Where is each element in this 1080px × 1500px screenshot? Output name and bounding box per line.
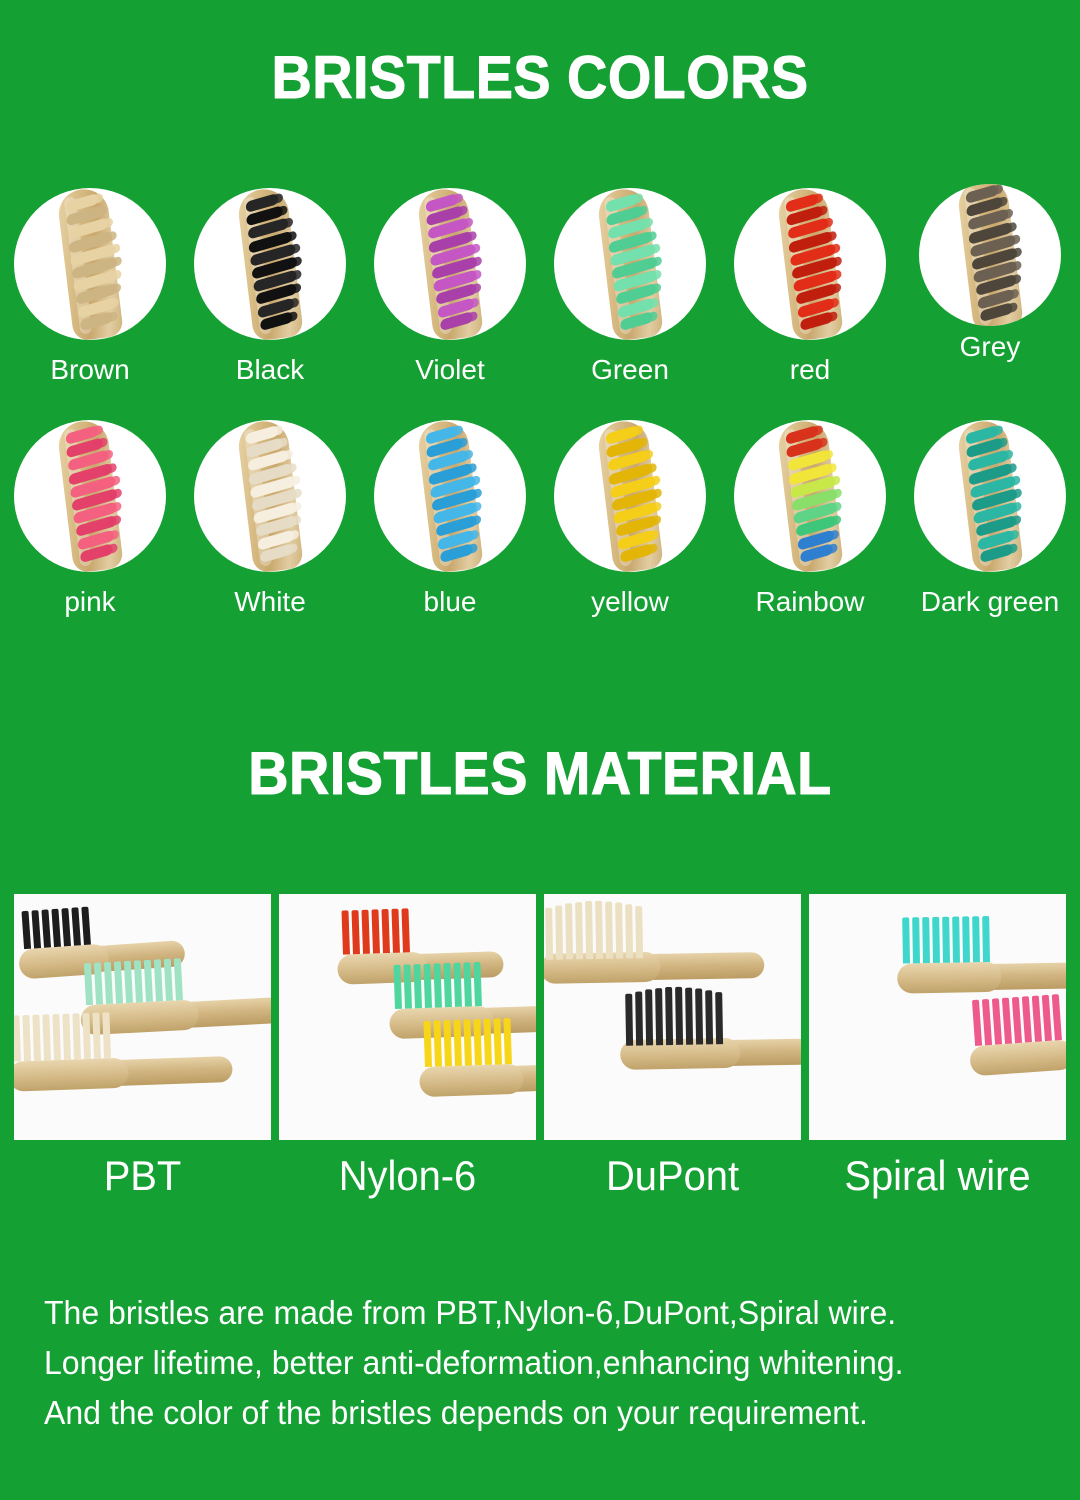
color-swatch-photo[interactable] — [374, 188, 526, 340]
bristle — [565, 903, 573, 959]
bristle — [902, 917, 910, 963]
bristle — [635, 906, 643, 958]
material-label-group: PBTNylon-6DuPontSpiral wire — [14, 1152, 1066, 1200]
bristle — [493, 1018, 502, 1064]
bristle — [655, 988, 663, 1045]
bristle — [715, 992, 723, 1044]
description-text: The bristles are made from PBT,Nylon-6,D… — [44, 1288, 975, 1438]
bristle — [503, 1018, 512, 1064]
color-swatch-photo[interactable] — [14, 188, 166, 340]
color-swatch-label: Violet — [415, 355, 485, 385]
bristle — [595, 901, 603, 959]
bristle — [962, 916, 970, 962]
color-swatch-item[interactable]: Black — [180, 188, 360, 385]
color-swatch-label: blue — [424, 587, 477, 617]
bristle — [42, 1014, 51, 1060]
bristle-row — [625, 986, 723, 1046]
material-label: PBT — [20, 1152, 264, 1200]
bristle — [401, 908, 410, 952]
color-swatch-item[interactable]: pink — [0, 420, 180, 617]
bristle — [443, 1020, 452, 1066]
bristle — [615, 902, 623, 958]
color-swatch-label: red — [790, 355, 830, 385]
yellow-brush — [417, 1017, 536, 1113]
bristle — [144, 960, 153, 1002]
bristle-row — [14, 1012, 111, 1061]
bristle — [61, 908, 71, 946]
toothbrush-head-illustration — [408, 420, 492, 572]
brush-head-base — [419, 1064, 524, 1098]
color-swatch-label: yellow — [591, 587, 669, 617]
bristle — [81, 907, 91, 945]
bristle — [982, 999, 992, 1045]
bristle — [14, 1015, 21, 1061]
toothbrush-head-illustration — [408, 188, 492, 340]
bristle — [932, 917, 940, 963]
description-line-3: And the color of the bristles depends on… — [44, 1388, 975, 1438]
bristle — [992, 998, 1002, 1044]
toothbrush-head-illustration — [768, 420, 852, 572]
bristle-row — [902, 916, 990, 964]
bristle — [555, 905, 563, 959]
color-swatch-item[interactable]: yellow — [540, 420, 720, 617]
bristle-colors-row-1: BrownBlackVioletGreenredGrey — [0, 188, 1080, 385]
bristle — [371, 909, 380, 953]
toothbrush-head-illustration — [48, 420, 132, 572]
bristle — [403, 964, 412, 1008]
bristle — [51, 909, 61, 947]
color-swatch-photo[interactable] — [374, 420, 526, 572]
bristle — [351, 910, 360, 954]
toothbrush-head-illustration — [48, 188, 132, 340]
bristle — [483, 1019, 492, 1065]
bristle — [134, 960, 143, 1002]
cream-brush — [14, 1010, 225, 1107]
bristle — [174, 958, 183, 1000]
bristle — [952, 917, 960, 963]
color-swatch-photo[interactable] — [554, 420, 706, 572]
bristle — [912, 917, 920, 963]
bristle — [675, 987, 683, 1045]
page-title-bristles-colors: BRISTLES COLORS — [38, 46, 1042, 110]
bristle — [1022, 996, 1032, 1042]
color-swatch-photo[interactable] — [734, 188, 886, 340]
color-swatch-item[interactable]: Brown — [0, 188, 180, 385]
bristle — [423, 1021, 432, 1067]
bristle — [463, 962, 472, 1006]
bristle — [635, 991, 643, 1045]
bristle — [575, 902, 583, 959]
bristle — [94, 962, 103, 1004]
bristle — [31, 910, 41, 948]
bristle — [92, 1013, 101, 1059]
toothbrush-head-illustration — [228, 188, 312, 340]
bristle — [545, 908, 553, 960]
color-swatch-photo[interactable] — [554, 188, 706, 340]
bristle — [82, 1013, 91, 1059]
color-swatch-item[interactable]: Grey — [900, 188, 1080, 385]
bristle — [982, 916, 990, 962]
color-swatch-photo[interactable] — [194, 188, 346, 340]
bristle — [665, 987, 673, 1045]
bristle — [52, 1014, 61, 1060]
bristle — [473, 962, 482, 1006]
bristle — [41, 909, 51, 947]
bristle — [72, 1013, 81, 1059]
bristle — [625, 994, 633, 1046]
color-swatch-item[interactable]: Rainbow — [720, 420, 900, 617]
bristle — [104, 962, 113, 1004]
bristle-row — [393, 962, 481, 1009]
color-swatch-photo[interactable] — [14, 420, 166, 572]
material-photo-spiral-wire[interactable] — [809, 894, 1066, 1140]
bristle-row — [341, 908, 409, 954]
bristle-colors-row-2: pinkWhiteblueyellowRainbowDark green — [0, 420, 1080, 617]
toothbrush-head-illustration — [768, 188, 852, 340]
bristle — [84, 963, 93, 1005]
bristle — [645, 989, 653, 1045]
toothbrush-head-illustration — [588, 188, 672, 340]
bristle — [473, 1019, 482, 1065]
color-swatch-label: Green — [591, 355, 669, 385]
bristle — [62, 1014, 71, 1060]
color-swatch-label: White — [234, 587, 306, 617]
color-swatch-label: Black — [236, 355, 304, 385]
color-swatch-label: Brown — [50, 355, 129, 385]
bristle — [71, 907, 81, 945]
bristle — [625, 904, 633, 958]
color-swatch-item[interactable]: Green — [540, 188, 720, 385]
infographic-page: BRISTLES COLORS BrownBlackVioletGreenred… — [0, 0, 1080, 1500]
toothbrush-head-illustration — [588, 420, 672, 572]
color-swatch-photo[interactable] — [919, 184, 1061, 326]
bristle-row — [423, 1018, 512, 1067]
bristle — [423, 964, 432, 1008]
description-line-1: The bristles are made from PBT,Nylon-6,D… — [44, 1288, 975, 1338]
bristle — [22, 1015, 31, 1061]
bristle — [381, 909, 390, 953]
bristle-row — [545, 900, 643, 960]
bristle-row — [972, 994, 1062, 1046]
material-photo-nylon-6[interactable] — [279, 894, 536, 1140]
toothbrush-head-illustration — [948, 184, 1032, 326]
brush-head-base — [14, 1058, 129, 1092]
bristle — [391, 909, 400, 953]
bristle — [685, 987, 693, 1044]
bristle — [102, 1012, 111, 1058]
color-swatch-label: Dark green — [921, 587, 1060, 617]
bristle — [21, 911, 31, 949]
color-swatch-photo[interactable] — [194, 420, 346, 572]
cream-brush — [544, 906, 756, 1000]
pink-spiral-brush — [966, 990, 1066, 1093]
bristle — [972, 916, 980, 962]
bristle — [453, 963, 462, 1007]
bristle — [341, 910, 350, 954]
page-title-bristles-material: BRISTLES MATERIAL — [38, 742, 1042, 806]
toothbrush-head-illustration — [948, 420, 1032, 572]
bristle — [361, 910, 370, 954]
bristle — [463, 1019, 472, 1065]
bristle — [114, 961, 123, 1003]
color-swatch-item[interactable]: Dark green — [900, 420, 1080, 617]
bristle — [443, 963, 452, 1007]
bristle — [1032, 995, 1042, 1041]
color-swatch-photo[interactable] — [914, 420, 1066, 572]
color-swatch-label: Grey — [960, 332, 1021, 362]
material-photo-pbt[interactable] — [14, 894, 271, 1140]
material-photo-dupont[interactable] — [544, 894, 801, 1140]
bristle — [164, 959, 173, 1001]
bristle — [433, 1020, 442, 1066]
bristle — [585, 901, 593, 959]
bristle — [605, 901, 613, 958]
color-swatch-item[interactable]: Violet — [360, 188, 540, 385]
bristle — [1012, 997, 1022, 1043]
bristle — [695, 988, 703, 1044]
bristle — [1052, 994, 1062, 1040]
brush-head-base — [897, 962, 1001, 994]
color-swatch-photo[interactable] — [734, 420, 886, 572]
black-brush — [619, 992, 801, 1086]
color-swatch-label: Rainbow — [756, 587, 865, 617]
bristle — [154, 959, 163, 1001]
bristle — [922, 917, 930, 963]
bristle — [413, 964, 422, 1008]
material-label: Spiral wire — [815, 1152, 1059, 1200]
material-panel-group — [14, 894, 1066, 1140]
color-swatch-item[interactable]: red — [720, 188, 900, 385]
color-swatch-label: pink — [64, 587, 115, 617]
toothbrush-head-illustration — [228, 420, 312, 572]
bristle — [1002, 998, 1012, 1044]
material-label: Nylon-6 — [285, 1152, 529, 1200]
color-swatch-item[interactable]: White — [180, 420, 360, 617]
description-line-2: Longer lifetime, better anti-deformation… — [44, 1338, 975, 1388]
bristle — [124, 961, 133, 1003]
bristle — [453, 1020, 462, 1066]
color-swatch-item[interactable]: blue — [360, 420, 540, 617]
bristle-row — [21, 907, 90, 950]
bristle — [1042, 995, 1052, 1041]
bristle — [942, 917, 950, 963]
bristle — [705, 990, 713, 1044]
bristle — [433, 963, 442, 1007]
material-label: DuPont — [550, 1152, 794, 1200]
bristle — [32, 1015, 41, 1061]
bristle — [393, 965, 402, 1009]
bristle — [972, 1000, 982, 1046]
bristle-row — [84, 958, 183, 1005]
